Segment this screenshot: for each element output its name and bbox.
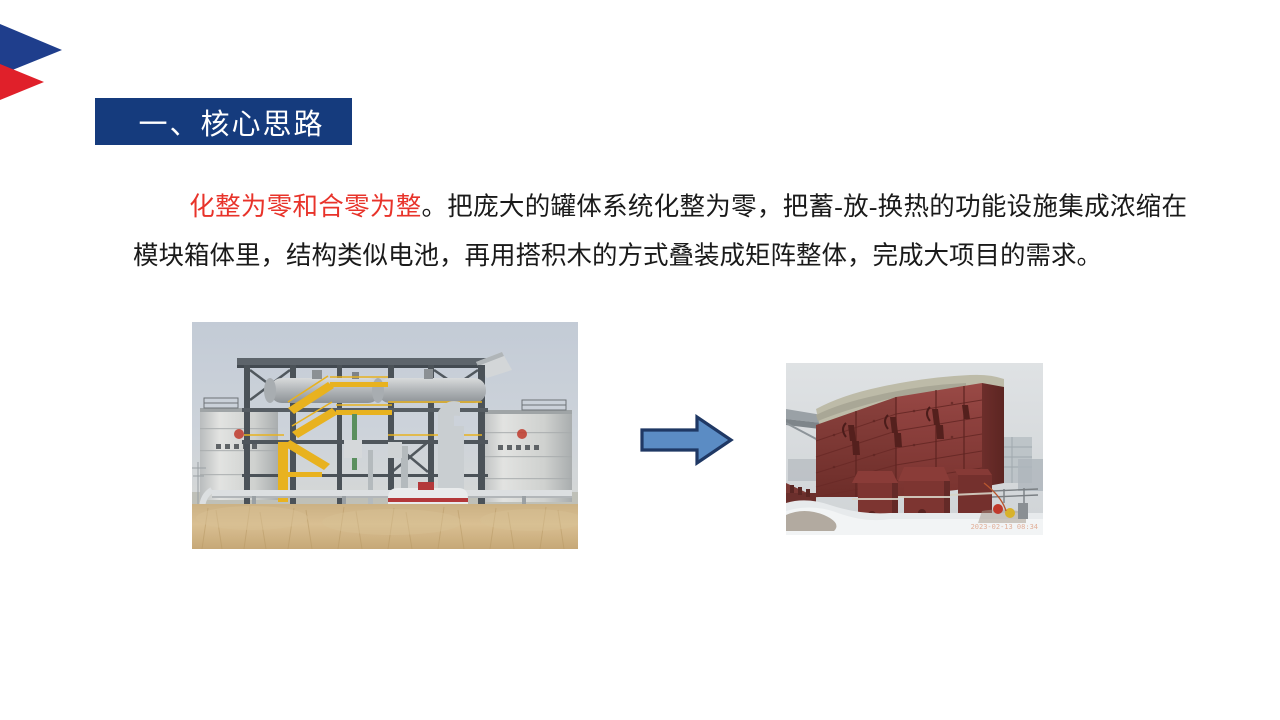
slide-canvas: 一、核心思路 化整为零和合零为整。把庞大的罐体系统化整为零，把蓄-放-换热的功能… <box>0 0 1280 720</box>
photo-tank-farm <box>192 322 578 549</box>
page-title: 一、核心思路 <box>116 101 330 143</box>
body-paragraph: 化整为零和合零为整。把庞大的罐体系统化整为零，把蓄-放-换热的功能设施集成浓缩在… <box>133 182 1187 280</box>
corner-logo-icon <box>0 18 78 106</box>
svg-text:2023-02-13 08:34: 2023-02-13 08:34 <box>971 523 1038 531</box>
photo-modular-boxes: 2023-02-13 08:34 2023-02-13 08:34 <box>786 363 1043 535</box>
right-arrow-icon <box>639 412 734 468</box>
section-title-banner: 一、核心思路 <box>95 98 352 145</box>
highlighted-phrase: 化整为零和合零为整 <box>189 192 422 221</box>
